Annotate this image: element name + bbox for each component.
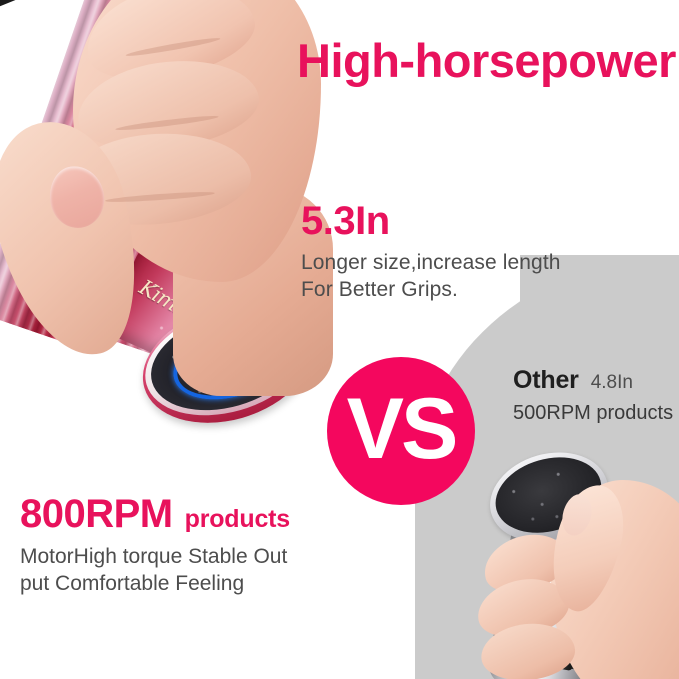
spec-size-description-line1: Longer size,increase length bbox=[301, 250, 631, 277]
rpm-products-label: products bbox=[185, 505, 290, 534]
page-title: High-horsepower bbox=[297, 33, 676, 88]
rpm-description-line2: put Comfortable Feeling bbox=[20, 570, 360, 597]
spec-size-description: Longer size,increase length For Better G… bbox=[301, 250, 631, 304]
rpm-description-line1: MotorHigh torque Stable Out bbox=[20, 543, 360, 570]
competitor-heading-row: Other 4.8In bbox=[513, 366, 679, 395]
rpm-value: 800RPM bbox=[20, 494, 173, 534]
rpm-heading-row: 800RPM products bbox=[20, 494, 360, 534]
competitor-label: Other bbox=[513, 366, 579, 395]
spec-block-competitor: Other 4.8In 500RPM products bbox=[513, 366, 679, 425]
hand-holding-pink-device bbox=[0, 0, 325, 390]
infographic-canvas: Kimiwi bbox=[0, 0, 679, 679]
vs-badge: VS bbox=[327, 357, 475, 505]
product-image-pink-device: Kimiwi bbox=[0, 0, 325, 470]
spec-size-value: 5.3In bbox=[301, 200, 631, 243]
spec-size-description-line2: For Better Grips. bbox=[301, 277, 631, 304]
spec-block-rpm: 800RPM products MotorHigh torque Stable … bbox=[20, 494, 360, 598]
competitor-rpm-value: 500RPM products bbox=[513, 402, 679, 425]
spec-block-size: 5.3In Longer size,increase length For Be… bbox=[301, 200, 631, 304]
vs-badge-label: VS bbox=[347, 386, 456, 472]
rpm-description: MotorHigh torque Stable Out put Comforta… bbox=[20, 543, 360, 598]
competitor-size-value: 4.8In bbox=[591, 372, 633, 394]
product-image-silver-device bbox=[455, 440, 679, 679]
